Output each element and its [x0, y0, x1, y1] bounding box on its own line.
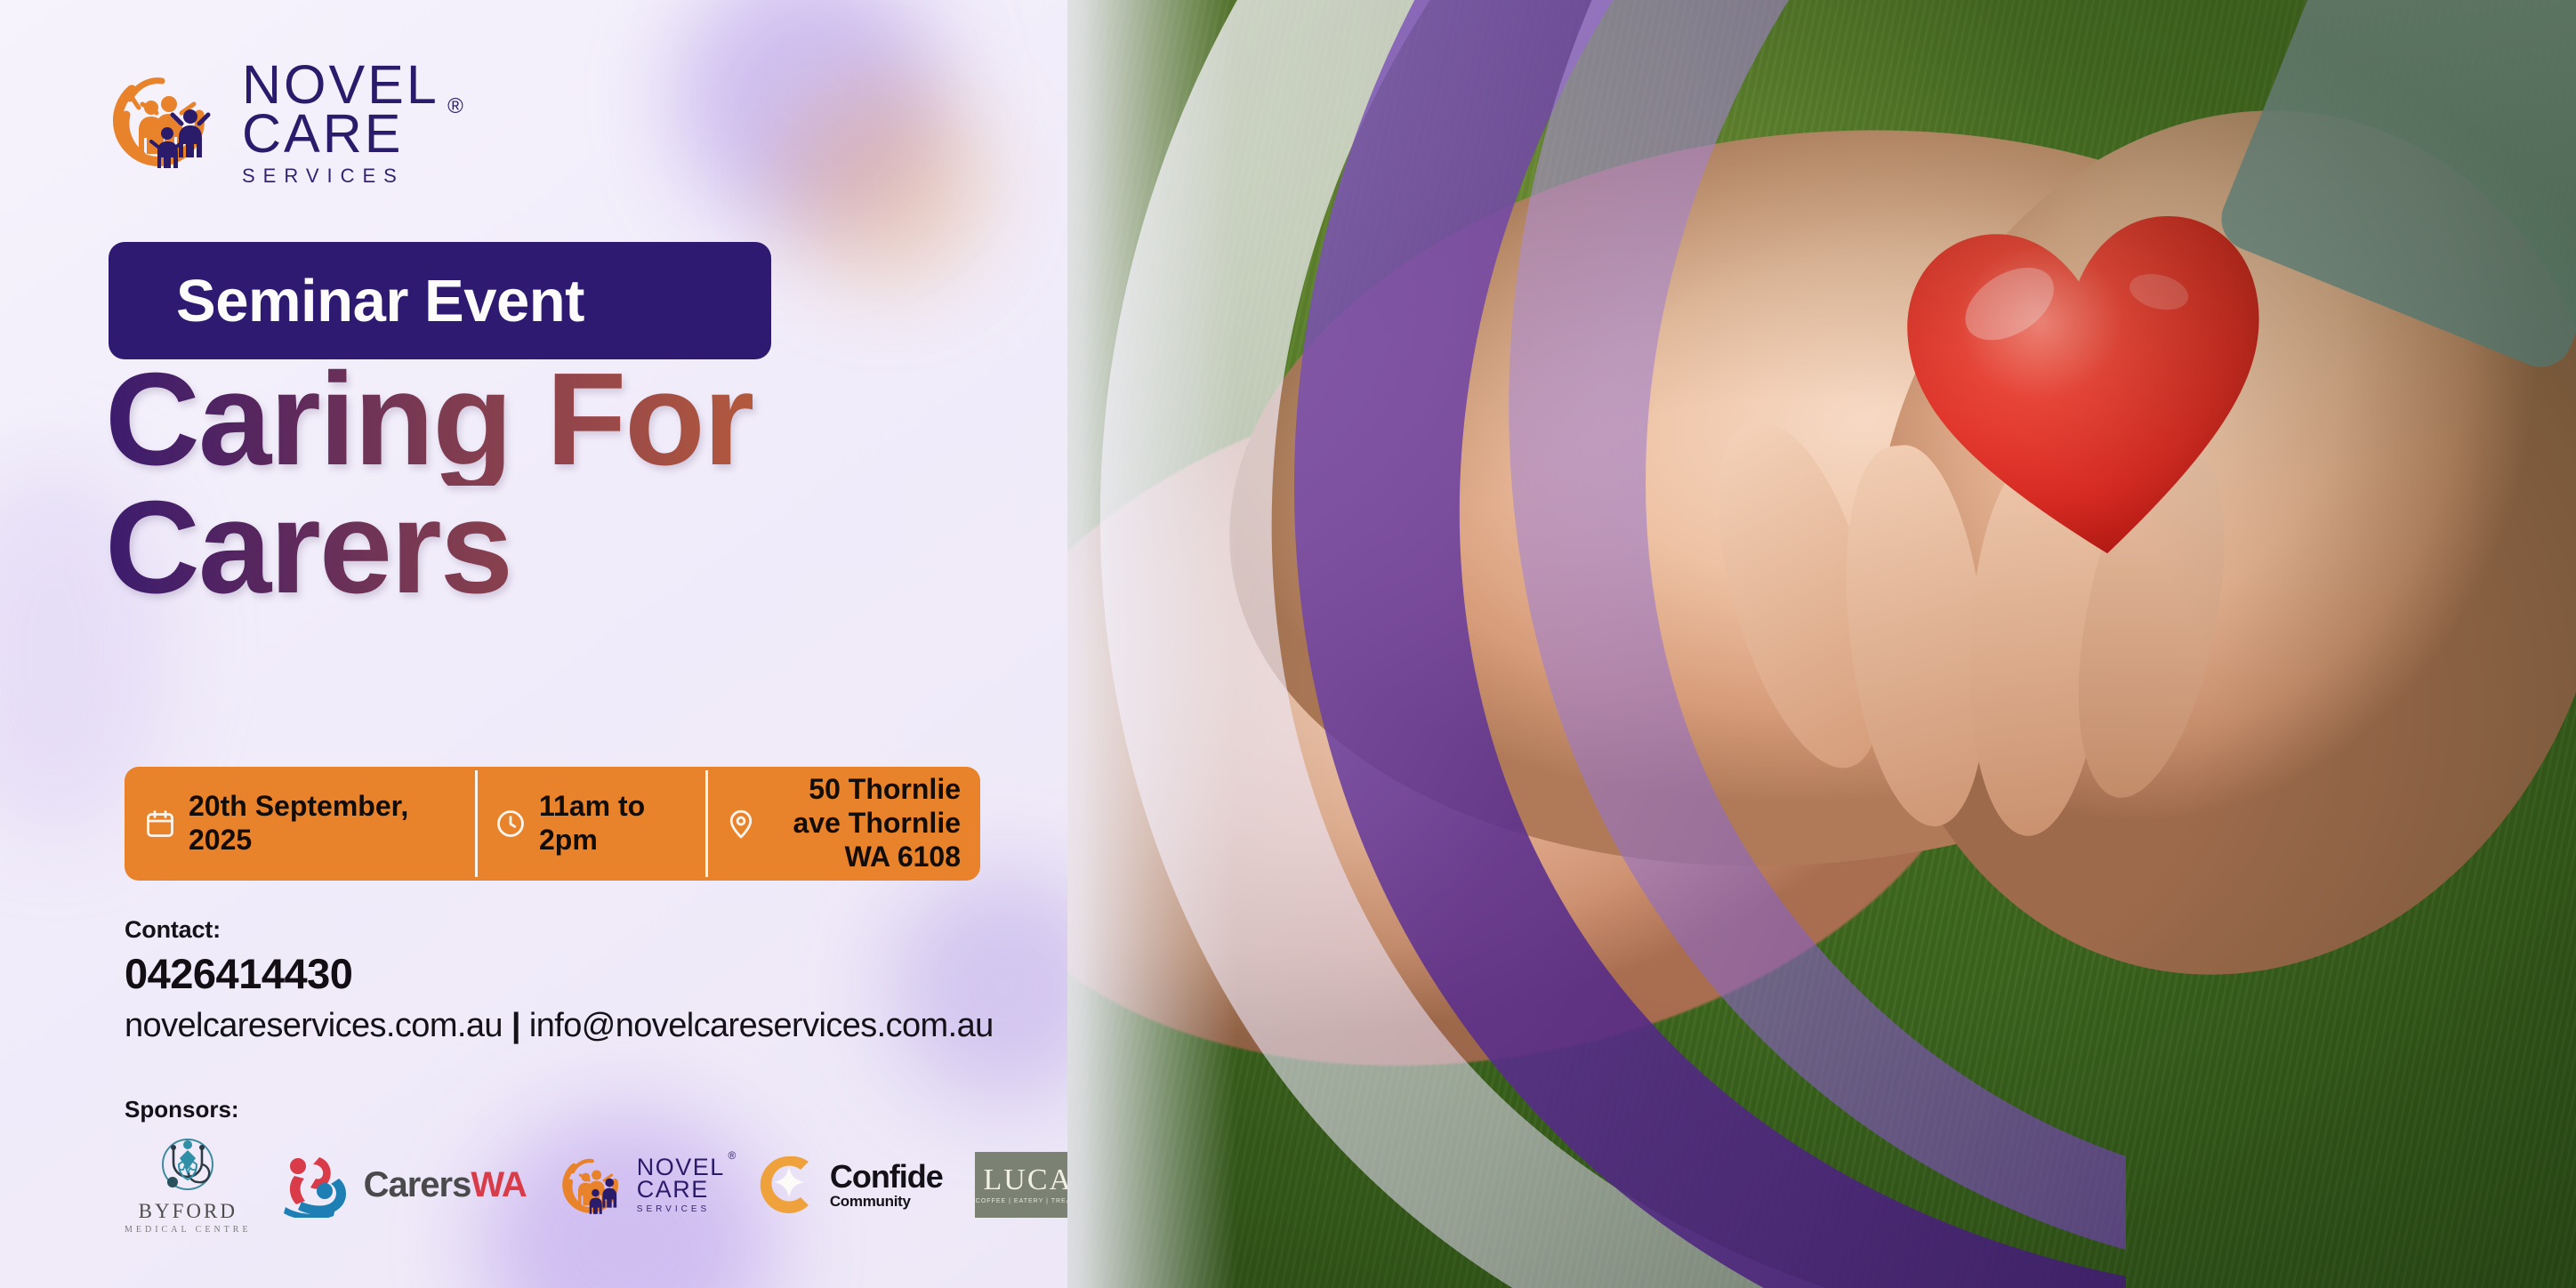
novel-care-small-logo-icon [559, 1150, 628, 1220]
decorative-blob-purple-top [676, 0, 943, 231]
byford-stethoscope-heart-icon [147, 1136, 229, 1198]
sponsors-label: Sponsors: [125, 1096, 1067, 1123]
left-content-panel: NOVEL CARE ® SERVICES Seminar Event Cari… [0, 0, 1067, 1288]
registered-trademark-icon: ® [447, 97, 466, 117]
page-title-line-1: Caring For [105, 354, 1048, 486]
sponsor-logo-carers-wa: CarersWA [284, 1152, 527, 1218]
page-title-line-2: Carers [105, 482, 1048, 614]
contact-email[interactable]: info@novelcareservices.com.au [529, 1007, 994, 1044]
event-location-segment: 50 Thornlie ave Thornlie WA 6108 [705, 767, 980, 881]
sponsor-logo-byford: BYFORD MEDICAL CENTRE [125, 1136, 252, 1235]
logo-subtitle: SERVICES [242, 167, 439, 185]
novel-care-logo-icon [107, 63, 221, 177]
logo-word-novel: NOVEL [242, 60, 439, 109]
confide-name: Confide [830, 1161, 943, 1193]
sponsor-logo-confide: Confide Community [757, 1153, 943, 1217]
contact-block: Contact: 0426414430 novelcareservices.co… [125, 916, 994, 1045]
sponsor-logo-novel-care: NOVEL CARE ® SERVICES [559, 1150, 725, 1220]
logo-word-care: CARE ® [242, 109, 439, 158]
contact-separator: | [511, 1007, 520, 1044]
sponsors-row: BYFORD MEDICAL CENTRE CarersWA [125, 1136, 1067, 1234]
contact-website[interactable]: novelcareservices.com.au [125, 1007, 503, 1044]
novel-small-care-text: CARE [637, 1176, 709, 1203]
sponsors-block: Sponsors: BYFORD MEDICAL CENTRE [125, 1096, 1067, 1234]
luca-subtitle: COFFEE | EATERY | TREATS [976, 1198, 1067, 1204]
event-date-text: 20th September, 2025 [189, 790, 455, 857]
decorative-blob-orange-top [783, 80, 987, 285]
sponsor-logo-luca: LUCA COFFEE | EATERY | TREATS [975, 1152, 1067, 1218]
luca-name: LUCA [984, 1165, 1067, 1195]
map-pin-icon [725, 808, 757, 840]
byford-subtitle: MEDICAL CENTRE [125, 1225, 252, 1235]
confide-subtitle: Community [830, 1194, 943, 1209]
carers-wa-word-carers: Carers [364, 1165, 471, 1204]
byford-name: BYFORD [139, 1200, 237, 1223]
page-title: Caring For Carers [105, 354, 1048, 614]
novel-small-registered-icon: ® [728, 1151, 737, 1161]
carers-wa-figures-icon [284, 1152, 353, 1218]
clock-icon [495, 808, 527, 840]
event-location-text: 50 Thornlie ave Thornlie WA 6108 [769, 773, 961, 873]
seminar-event-badge: Seminar Event [109, 242, 771, 359]
novel-small-word-care: CARE ® [637, 1179, 725, 1201]
novel-small-subtitle: SERVICES [637, 1205, 725, 1213]
calendar-icon [144, 808, 176, 840]
contact-phone[interactable]: 0426414430 [125, 949, 994, 998]
contact-web-email-line: novelcareservices.com.au | info@novelcar… [125, 1007, 994, 1045]
carers-wa-wordmark: CarersWA [364, 1165, 527, 1205]
event-date-segment: 20th September, 2025 [125, 767, 475, 881]
brand-logo: NOVEL CARE ® SERVICES [107, 55, 439, 185]
carers-wa-word-wa: WA [471, 1165, 526, 1204]
confide-starburst-icon [757, 1153, 821, 1217]
contact-label: Contact: [125, 916, 994, 944]
seminar-event-badge-label: Seminar Event [176, 267, 584, 335]
hero-photo [1023, 0, 2576, 1288]
event-details-bar: 20th September, 2025 11am to 2pm 50 Thor… [125, 767, 980, 881]
logo-word-care-text: CARE [242, 103, 403, 164]
event-time-segment: 11am to 2pm [475, 767, 705, 881]
event-time-text: 11am to 2pm [539, 790, 686, 857]
